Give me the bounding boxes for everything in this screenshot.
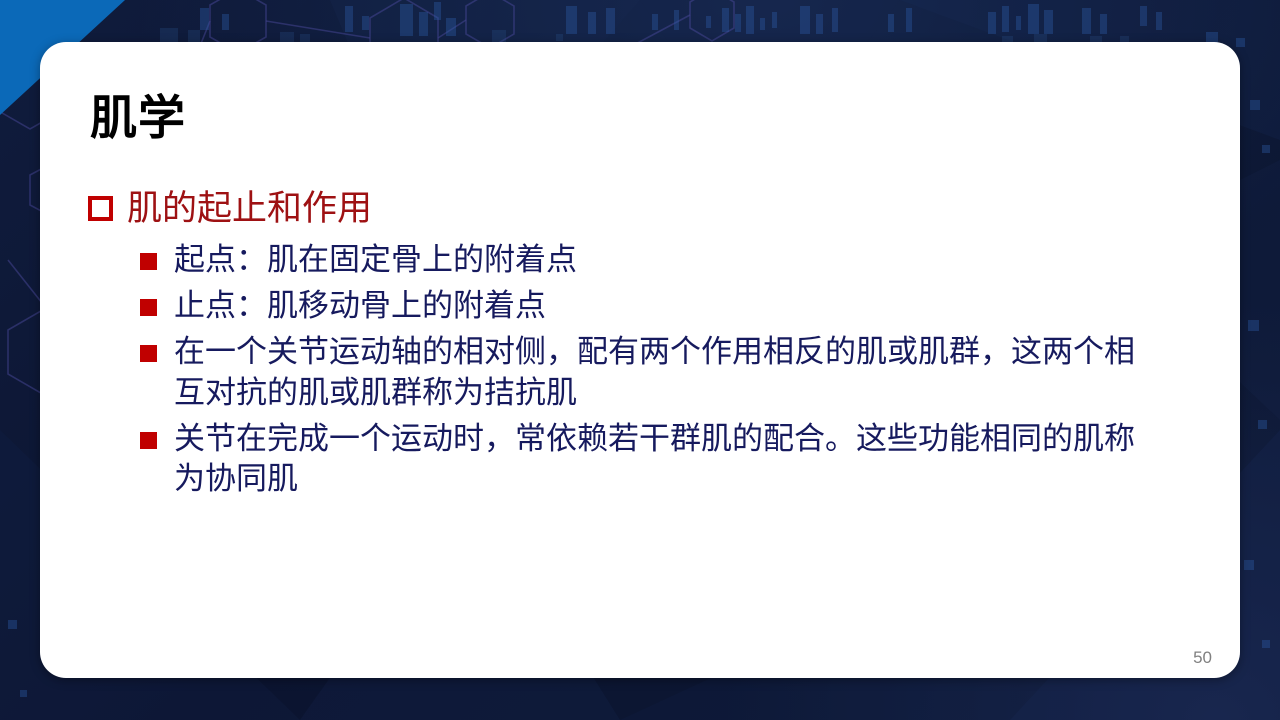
list-item-level1: 肌的起止和作用: [88, 187, 1200, 232]
filled-square-bullet-icon: [140, 345, 157, 362]
list-item: 止点：肌移动骨上的附着点: [88, 286, 1200, 326]
list-item-label: 止点：肌移动骨上的附着点: [174, 286, 546, 326]
bullet-list: 肌的起止和作用 起点：肌在固定骨上的附着点 止点：肌移动骨上的附着点 在一个关节…: [88, 187, 1200, 506]
list-item: 关节在完成一个运动时，常依赖若干群肌的配合。这些功能相同的肌称为协同肌: [88, 419, 1200, 500]
list-item-label: 关节在完成一个运动时，常依赖若干群肌的配合。这些功能相同的肌称为协同肌: [174, 419, 1149, 500]
list-item-level1-label: 肌的起止和作用: [127, 187, 372, 232]
filled-square-bullet-icon: [140, 432, 157, 449]
list-item: 起点：肌在固定骨上的附着点: [88, 240, 1200, 280]
page-number: 50: [1193, 648, 1212, 668]
page-title: 肌学: [90, 92, 186, 144]
presentation-slide: 肌学 肌的起止和作用 起点：肌在固定骨上的附着点 止点：肌移动骨上的附着点 在一…: [0, 0, 1280, 720]
filled-square-bullet-icon: [140, 299, 157, 316]
sub-bullet-list: 起点：肌在固定骨上的附着点 止点：肌移动骨上的附着点 在一个关节运动轴的相对侧，…: [88, 240, 1200, 500]
content-card: 肌学 肌的起止和作用 起点：肌在固定骨上的附着点 止点：肌移动骨上的附着点 在一…: [40, 42, 1240, 678]
list-item: 在一个关节运动轴的相对侧，配有两个作用相反的肌或肌群，这两个相互对抗的肌或肌群称…: [88, 332, 1200, 413]
list-item-label: 在一个关节运动轴的相对侧，配有两个作用相反的肌或肌群，这两个相互对抗的肌或肌群称…: [174, 332, 1149, 413]
hollow-square-bullet-icon: [88, 196, 113, 221]
list-item-label: 起点：肌在固定骨上的附着点: [174, 240, 577, 280]
filled-square-bullet-icon: [140, 253, 157, 270]
